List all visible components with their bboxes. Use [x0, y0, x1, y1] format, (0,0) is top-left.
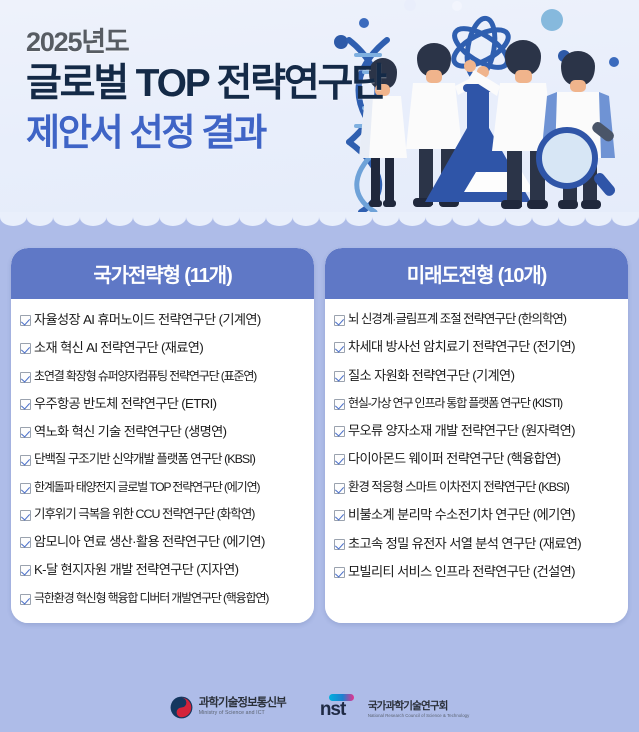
checkbox-checked-icon[interactable]	[20, 427, 31, 438]
checkbox-checked-icon[interactable]	[20, 315, 31, 326]
list-item[interactable]: 모빌리티 서비스 인프라 전략연구단 (건설연)	[334, 564, 619, 583]
list-item-label: 단백질 구조기반 신약개발 플랫폼 연구단 (KBSI)	[34, 452, 255, 468]
list-item-label: 암모니아 연료 생산·활용 전략연구단 (에기연)	[34, 534, 265, 551]
checkbox-checked-icon[interactable]	[20, 510, 31, 521]
list-item-label: 우주항공 반도체 전략연구단 (ETRI)	[34, 396, 216, 413]
decorative-dot	[452, 1, 462, 11]
decorative-dot	[609, 57, 619, 67]
list-item[interactable]: 기후위기 극복을 위한 CCU 전략연구단 (화학연)	[20, 507, 305, 525]
footer-logos: 과학기술정보통신부 Ministry of Science and ICT ns…	[0, 694, 639, 720]
list-item[interactable]: 초고속 정밀 유전자 서열 분석 연구단 (재료연)	[334, 536, 619, 555]
list-item-label: 소재 혁신 AI 전략연구단 (재료연)	[34, 340, 203, 357]
card-future-challenge-heading: 미래도전형 (10개)	[325, 248, 628, 299]
list-item[interactable]: 현실-가상 연구 인프라 통합 플랫폼 연구단 (KISTI)	[334, 396, 619, 413]
hero-year-line: 2025년도	[26, 26, 385, 59]
taegeuk-swirl-icon	[170, 696, 193, 719]
hero-title-block: 2025년도 글로벌 TOP 전략연구단 제안서 선정 결과	[26, 26, 385, 155]
list-item[interactable]: 한계돌파 태양전지 글로벌 TOP 전략연구단 (에기연)	[20, 480, 305, 497]
checkbox-checked-icon[interactable]	[20, 343, 31, 354]
list-item[interactable]: 무오류 양자소재 개발 전략연구단 (원자력연)	[334, 423, 619, 442]
list-item-label: 기후위기 극복을 위한 CCU 전략연구단 (화학연)	[34, 507, 254, 523]
checkbox-checked-icon[interactable]	[334, 539, 345, 550]
checkbox-checked-icon[interactable]	[334, 371, 345, 382]
logo-nst: nst 국가과학기술연구회 National Research Council …	[320, 694, 470, 720]
list-item-label: 차세대 방사선 암치료기 전략연구단 (전기연)	[348, 339, 575, 356]
card-national-strategic-list: 자율성장 AI 휴머노이드 전략연구단 (기계연) 소재 혁신 AI 전략연구단…	[11, 299, 314, 623]
list-item[interactable]: 극한환경 혁신형 핵융합 디버터 개발연구단 (핵융합연)	[20, 591, 305, 608]
card-future-challenge: 미래도전형 (10개) 뇌 신경계·글림프계 조절 전략연구단 (한의학연) 차…	[325, 248, 628, 623]
decorative-dot	[404, 0, 416, 11]
list-item-label: 현실-가상 연구 인프라 통합 플랫폼 연구단 (KISTI)	[348, 396, 562, 411]
checkbox-checked-icon[interactable]	[334, 342, 345, 353]
list-item-label: 초연결 확장형 슈퍼양자컴퓨팅 전략연구단 (표준연)	[34, 369, 256, 384]
checkbox-checked-icon[interactable]	[20, 372, 31, 383]
list-item-label: 다이아몬드 웨이퍼 전략연구단 (핵융합연)	[348, 451, 560, 468]
list-item[interactable]: 질소 자원화 전략연구단 (기계연)	[334, 368, 619, 387]
checkbox-checked-icon[interactable]	[334, 315, 345, 326]
card-national-strategic-heading: 국가전략형 (11개)	[11, 248, 314, 299]
checkbox-checked-icon[interactable]	[20, 399, 31, 410]
list-item-label: 극한환경 혁신형 핵융합 디버터 개발연구단 (핵융합연)	[34, 591, 268, 606]
checkbox-checked-icon[interactable]	[20, 537, 31, 548]
list-item-label: 초고속 정밀 유전자 서열 분석 연구단 (재료연)	[348, 536, 581, 553]
list-item-label: 질소 자원화 전략연구단 (기계연)	[348, 368, 514, 385]
checkbox-checked-icon[interactable]	[20, 455, 31, 466]
list-item[interactable]: 초연결 확장형 슈퍼양자컴퓨팅 전략연구단 (표준연)	[20, 369, 305, 386]
list-item[interactable]: 비불소계 분리막 수소전기차 연구단 (에기연)	[334, 507, 619, 526]
card-national-strategic: 국가전략형 (11개) 자율성장 AI 휴머노이드 전략연구단 (기계연) 소재…	[11, 248, 314, 623]
list-item[interactable]: 자율성장 AI 휴머노이드 전략연구단 (기계연)	[20, 312, 305, 331]
logo-nst-kr: 국가과학기술연구회	[368, 701, 470, 713]
checkbox-checked-icon[interactable]	[20, 483, 31, 494]
checkbox-checked-icon[interactable]	[20, 594, 31, 605]
logo-msit-kr: 과학기술정보통신부	[199, 697, 286, 710]
hero-title-line: 글로벌 TOP 전략연구단	[26, 61, 385, 108]
list-item-label: 역노화 혁신 기술 전략연구단 (생명연)	[34, 424, 226, 441]
list-item[interactable]: 소재 혁신 AI 전략연구단 (재료연)	[20, 340, 305, 359]
checkbox-checked-icon[interactable]	[334, 426, 345, 437]
list-item[interactable]: K-달 현지자원 개발 전략연구단 (지자연)	[20, 562, 305, 581]
poster-root: 2025년도 글로벌 TOP 전략연구단 제안서 선정 결과 국가전략형 (11…	[0, 0, 639, 732]
list-item[interactable]: 차세대 방사선 암치료기 전략연구단 (전기연)	[334, 339, 619, 358]
list-item-label: 환경 적응형 스마트 이차전지 전략연구단 (KBSI)	[348, 480, 569, 496]
list-item[interactable]: 단백질 구조기반 신약개발 플랫폼 연구단 (KBSI)	[20, 452, 305, 470]
decorative-dot	[541, 9, 563, 31]
list-item[interactable]: 뇌 신경계·글림프계 조절 전략연구단 (한의학연)	[334, 312, 619, 330]
list-item-label: K-달 현지자원 개발 전략연구단 (지자연)	[34, 562, 238, 579]
hero-banner: 2025년도 글로벌 TOP 전략연구단 제안서 선정 결과	[0, 0, 639, 218]
logo-nst-en: National Research Council of Science & T…	[368, 713, 470, 719]
nst-wordmark-text: nst	[320, 700, 346, 719]
list-item-label: 한계돌파 태양전지 글로벌 TOP 전략연구단 (에기연)	[34, 480, 259, 495]
list-item[interactable]: 암모니아 연료 생산·활용 전략연구단 (에기연)	[20, 534, 305, 553]
checkbox-checked-icon[interactable]	[334, 454, 345, 465]
card-future-challenge-list: 뇌 신경계·글림프계 조절 전략연구단 (한의학연) 차세대 방사선 암치료기 …	[325, 299, 628, 623]
checkbox-checked-icon[interactable]	[334, 567, 345, 578]
list-item[interactable]: 역노화 혁신 기술 전략연구단 (생명연)	[20, 424, 305, 443]
list-item[interactable]: 환경 적응형 스마트 이차전지 전략연구단 (KBSI)	[334, 480, 619, 498]
hero-subtitle-line: 제안서 선정 결과	[26, 111, 385, 155]
checkbox-checked-icon[interactable]	[20, 565, 31, 576]
results-body: 국가전략형 (11개) 자율성장 AI 휴머노이드 전략연구단 (기계연) 소재…	[0, 226, 639, 732]
list-item-label: 자율성장 AI 휴머노이드 전략연구단 (기계연)	[34, 312, 261, 329]
logo-nst-text: 국가과학기술연구회 National Research Council of S…	[368, 701, 470, 720]
nst-wordmark-icon: nst	[320, 694, 362, 720]
logo-msit: 과학기술정보통신부 Ministry of Science and ICT	[170, 696, 286, 719]
checkbox-checked-icon[interactable]	[334, 399, 345, 410]
checkbox-checked-icon[interactable]	[334, 510, 345, 521]
list-item[interactable]: 다이아몬드 웨이퍼 전략연구단 (핵융합연)	[334, 451, 619, 470]
list-item-label: 비불소계 분리막 수소전기차 연구단 (에기연)	[348, 507, 575, 524]
checkbox-checked-icon[interactable]	[334, 483, 345, 494]
list-item-label: 뇌 신경계·글림프계 조절 전략연구단 (한의학연)	[348, 312, 566, 328]
logo-msit-text: 과학기술정보통신부 Ministry of Science and ICT	[199, 697, 286, 717]
logo-msit-en: Ministry of Science and ICT	[199, 710, 286, 717]
result-cards-container: 국가전략형 (11개) 자율성장 AI 휴머노이드 전략연구단 (기계연) 소재…	[0, 248, 639, 623]
list-item[interactable]: 우주항공 반도체 전략연구단 (ETRI)	[20, 396, 305, 415]
list-item-label: 무오류 양자소재 개발 전략연구단 (원자력연)	[348, 423, 575, 440]
list-item-label: 모빌리티 서비스 인프라 전략연구단 (건설연)	[348, 564, 575, 581]
scallop-divider	[0, 212, 639, 228]
